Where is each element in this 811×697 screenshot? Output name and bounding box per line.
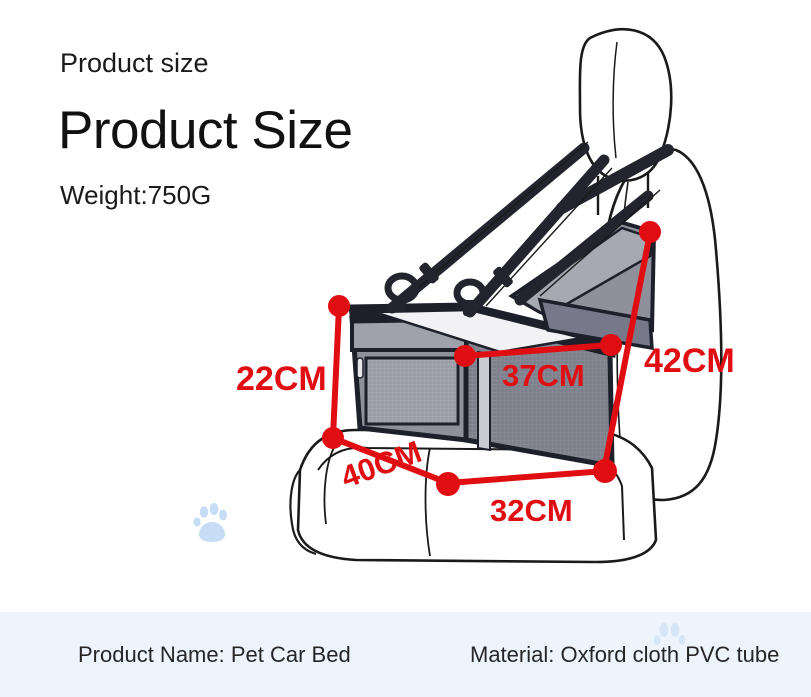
dimension-label-42cm: 42CM (644, 344, 735, 378)
dimension-label-22cm: 22CM (236, 362, 327, 396)
dimension-dot-32cm-right (596, 462, 614, 480)
dimension-label-37cm: 37CM (502, 360, 585, 391)
dimension-dot-corner (439, 475, 457, 493)
paw-print-icon (192, 502, 232, 546)
dimension-dot-37cm-right (603, 337, 619, 353)
footer-product-name: Product Name: Pet Car Bed (78, 642, 351, 668)
zipper-pull-icon (357, 358, 363, 378)
dimension-dot-42cm-top (642, 224, 658, 240)
footer-material: Material: Oxford cloth PVC tube (470, 642, 779, 668)
bed-right-mesh-strip (478, 352, 490, 450)
dimension-label-32cm: 32CM (490, 495, 573, 526)
bed-front-mesh-window (366, 358, 458, 424)
dimension-line-22cm (333, 307, 339, 437)
footer-band: Product Name: Pet Car Bed Material: Oxfo… (0, 612, 811, 697)
dimension-dot-22cm-top (331, 298, 347, 314)
product-illustration (0, 0, 811, 620)
product-size-infographic: Product size Product Size Weight:750G (0, 0, 811, 697)
dimension-dot-37cm-left (457, 348, 473, 364)
